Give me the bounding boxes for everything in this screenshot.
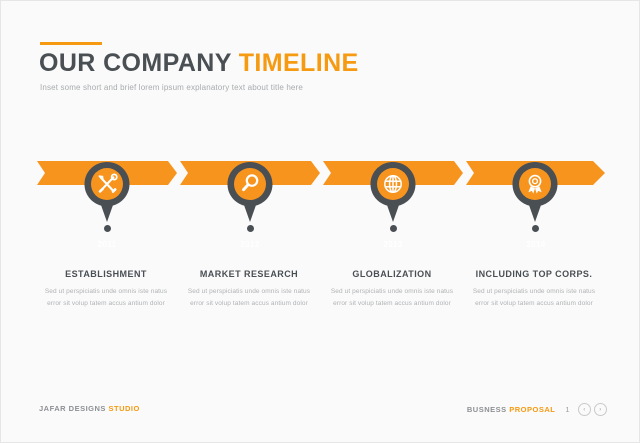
page-title-accent: TIMELINE [239,49,359,77]
title-underline-rule [40,42,102,45]
footer-brand: JAFAR DESIGNS STUDIO [39,404,140,413]
page-title: OUR COMPANY TIMELINE [39,49,359,78]
footer-doc-main: BUSNESS [467,405,509,414]
timeline-node-dot [532,225,539,232]
footer-brand-accent: STUDIO [109,404,140,413]
chevron-left-icon: ‹ [583,407,586,413]
page-title-main: OUR COMPANY [39,49,239,77]
next-slide-button[interactable]: › [594,403,607,416]
timeline-pin-2013[interactable] [370,161,416,223]
milestone-body: Sed ut perspiciatis unde omnis iste natu… [468,286,600,310]
timeline-node-dot [390,225,397,232]
milestone-column-2014: INCLUDING TOP CORPS. Sed ut perspiciatis… [450,269,618,310]
footer-controls: BUSNESS PROPOSAL 1 ‹ › [467,403,607,416]
footer-doc-label: BUSNESS PROPOSAL [467,405,555,414]
timeline-year-label: 2012 [180,240,320,249]
page-subtitle: Inset some short and brief lorem ipsum e… [40,83,303,92]
slide-canvas: OUR COMPANY TIMELINE Inset some short an… [0,0,640,443]
slide-nav: ‹ › [578,403,607,416]
timeline-node-dot [104,225,111,232]
milestone-body: Sed ut perspiciatis unde omnis iste natu… [40,286,172,310]
timeline-pin-2011[interactable] [84,161,130,223]
chevron-right-icon: › [599,407,602,413]
milestone-title: INCLUDING TOP CORPS. [450,269,618,279]
timeline-node-dot [247,225,254,232]
footer-doc-accent: PROPOSAL [509,405,555,414]
timeline-pin-2012[interactable] [227,161,273,223]
timeline-year-label: 2011 [37,240,177,249]
prev-slide-button[interactable]: ‹ [578,403,591,416]
milestone-body: Sed ut perspiciatis unde omnis iste natu… [183,286,315,310]
timeline-year-label: 2013 [323,240,463,249]
footer-brand-main: JAFAR DESIGNS [39,404,109,413]
timeline-pin-2014[interactable] [512,161,558,223]
page-number: 1 [565,405,570,414]
milestone-body: Sed ut perspiciatis unde omnis iste natu… [326,286,458,310]
timeline-graphic: 2011 2012 2013 2014 [37,161,605,271]
timeline-year-label: 2014 [466,240,606,249]
